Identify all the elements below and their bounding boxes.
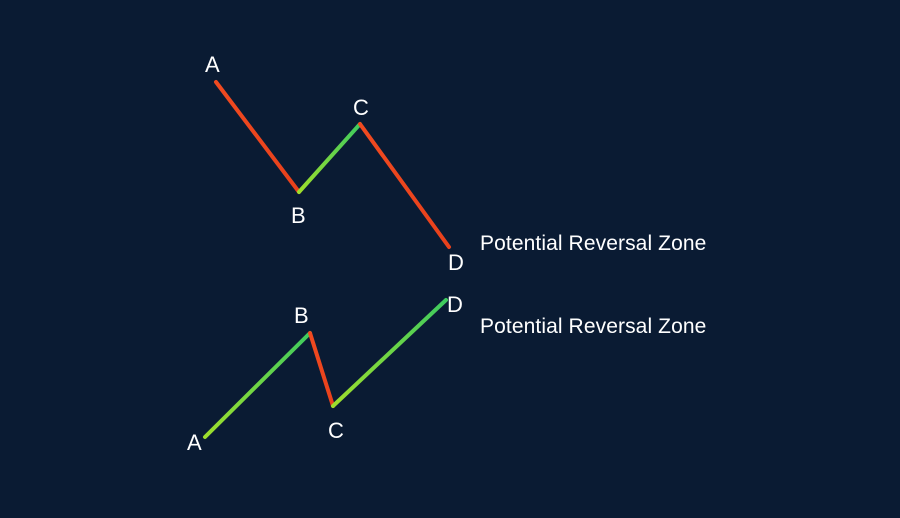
bullish-potential-reversal-zone-label: Potential Reversal Zone: [480, 316, 706, 337]
bearish-point-label-b: B: [291, 205, 306, 227]
bullish-pattern-path: [205, 300, 446, 437]
bearish-leg-bc: [299, 124, 360, 192]
bullish-point-label-d: D: [447, 294, 463, 316]
bullish-point-label-b: B: [294, 305, 309, 327]
bearish-point-label-a: A: [205, 54, 220, 76]
bullish-point-label-a: A: [187, 432, 202, 454]
bearish-leg-cd: [360, 124, 449, 247]
bullish-point-label-c: C: [328, 420, 344, 442]
bearish-leg-ab: [216, 82, 299, 192]
bullish-leg-cd: [333, 300, 446, 406]
harmonic-pattern-figure: A B C D A B C D Potential Reversal Zone …: [0, 0, 900, 518]
bearish-point-label-d: D: [448, 252, 464, 274]
bullish-leg-ab: [205, 333, 310, 437]
bullish-leg-bc: [310, 333, 333, 406]
bearish-potential-reversal-zone-label: Potential Reversal Zone: [480, 233, 706, 254]
bearish-pattern-path: [216, 82, 449, 247]
bearish-point-label-c: C: [353, 97, 369, 119]
